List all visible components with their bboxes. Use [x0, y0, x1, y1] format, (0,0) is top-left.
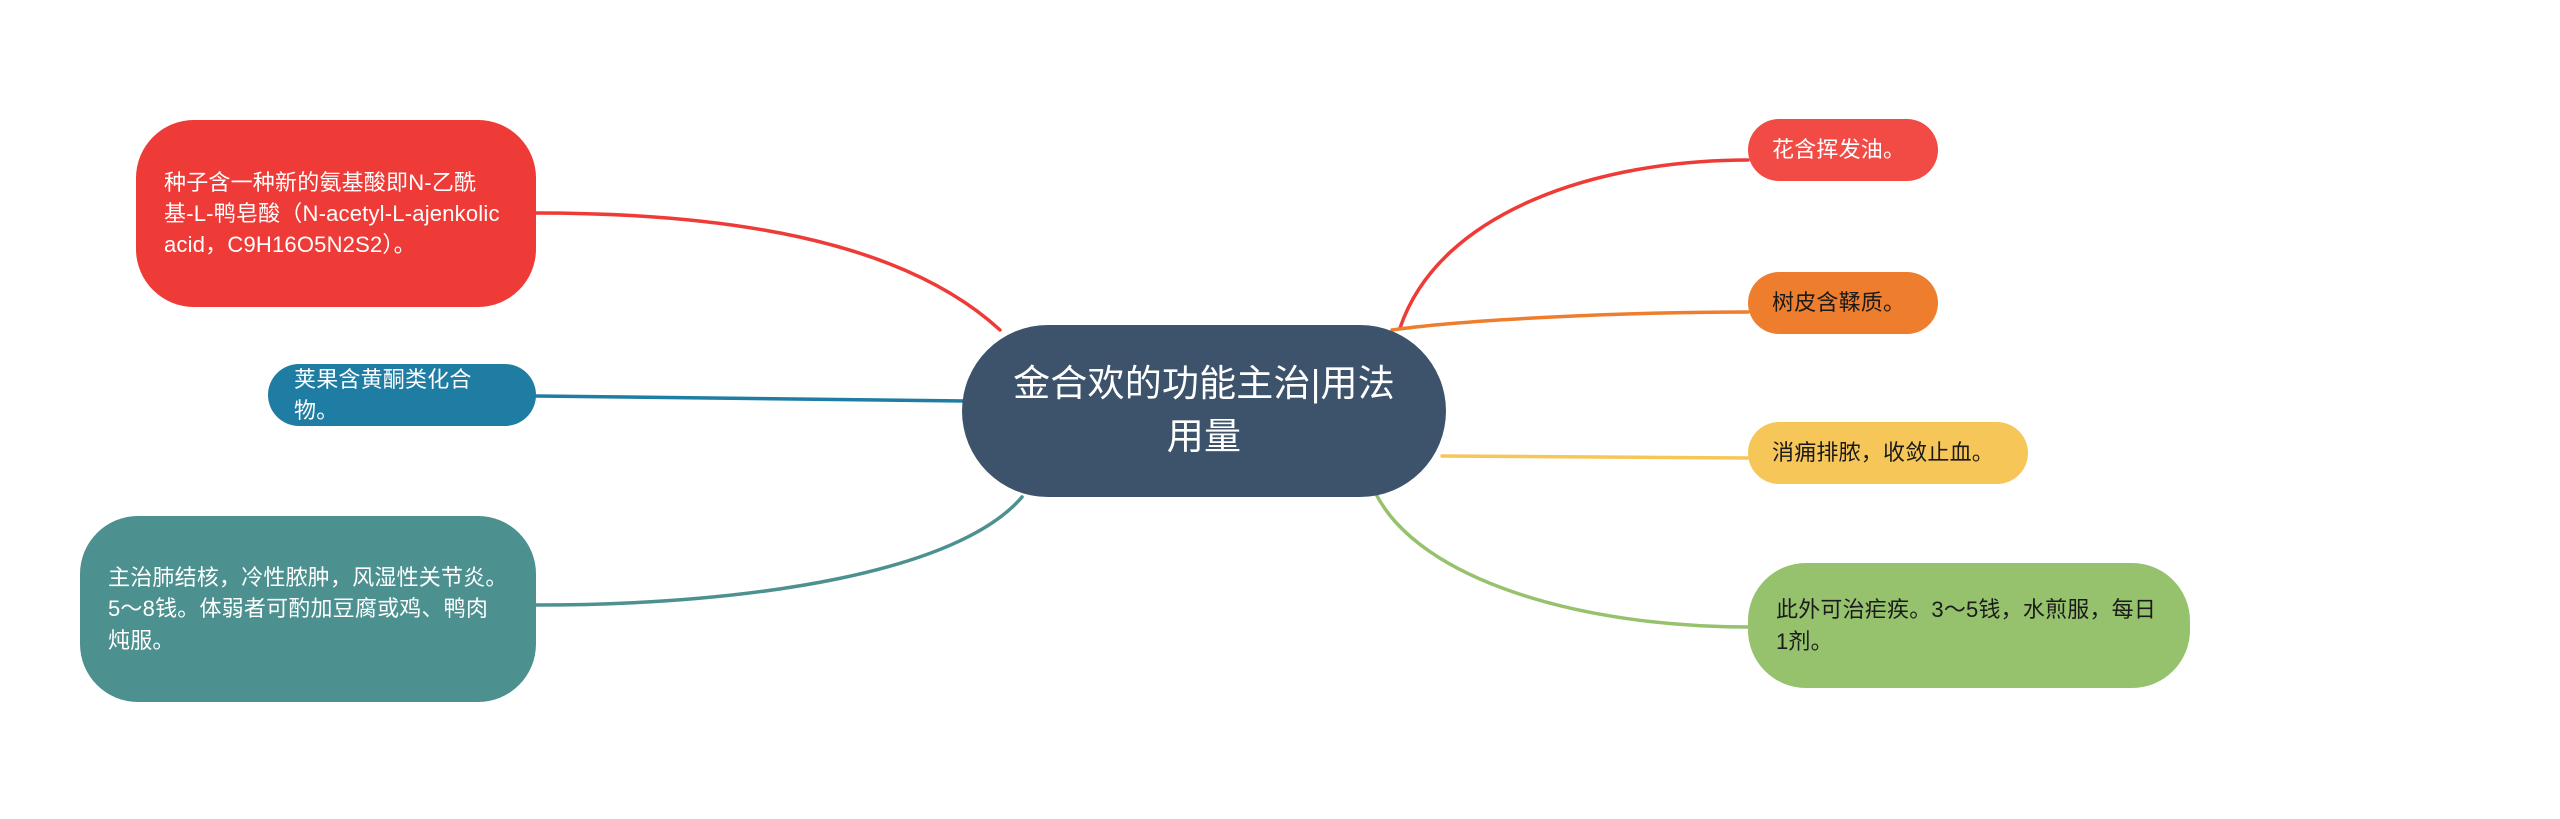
branch-label-pod-composition: 荚果含黄酮类化合物。	[294, 364, 510, 426]
branch-label-flower-composition: 花含挥发油。	[1772, 134, 1914, 165]
branch-label-indication-dosage: 主治肺结核，冷性脓肿，风湿性关节炎。5～8钱。体弱者可酌加豆腐或鸡、鸭肉炖服。	[108, 562, 508, 656]
connector-indication	[536, 497, 1022, 605]
branch-node-indication-dosage[interactable]: 主治肺结核，冷性脓肿，风湿性关节炎。5～8钱。体弱者可酌加豆腐或鸡、鸭肉炖服。	[80, 516, 536, 702]
central-topic-node[interactable]: 金合欢的功能主治|用法用量	[962, 325, 1446, 497]
branch-label-malaria-treatment: 此外可治疟疾。3～5钱，水煎服，每日1剂。	[1776, 594, 2162, 656]
branch-node-function-effects[interactable]: 消痈排脓，收敛止血。	[1748, 422, 2028, 484]
connector-function	[1442, 456, 1748, 458]
connector-seed	[536, 213, 1000, 330]
branch-label-seed-composition: 种子含一种新的氨基酸即N‑乙酰基‑L‑鸭皂酸（N-acetyl-L-ajenko…	[164, 167, 508, 261]
branch-node-pod-composition[interactable]: 荚果含黄酮类化合物。	[268, 364, 536, 426]
connector-bark	[1392, 312, 1748, 330]
branch-node-malaria-treatment[interactable]: 此外可治疟疾。3～5钱，水煎服，每日1剂。	[1748, 563, 2190, 688]
central-topic-label: 金合欢的功能主治|用法用量	[996, 358, 1412, 463]
branch-node-bark-composition[interactable]: 树皮含鞣质。	[1748, 272, 1938, 334]
branch-label-function-effects: 消痈排脓，收敛止血。	[1772, 437, 2004, 468]
branch-label-bark-composition: 树皮含鞣质。	[1772, 287, 1914, 318]
branch-node-flower-composition[interactable]: 花含挥发油。	[1748, 119, 1938, 181]
connector-flower	[1400, 160, 1748, 328]
connector-pod	[536, 396, 966, 401]
branch-node-seed-composition[interactable]: 种子含一种新的氨基酸即N‑乙酰基‑L‑鸭皂酸（N-acetyl-L-ajenko…	[136, 120, 536, 307]
mindmap-canvas: 金合欢的功能主治|用法用量 种子含一种新的氨基酸即N‑乙酰基‑L‑鸭皂酸（N-a…	[0, 0, 2560, 819]
connector-malaria	[1376, 494, 1748, 627]
